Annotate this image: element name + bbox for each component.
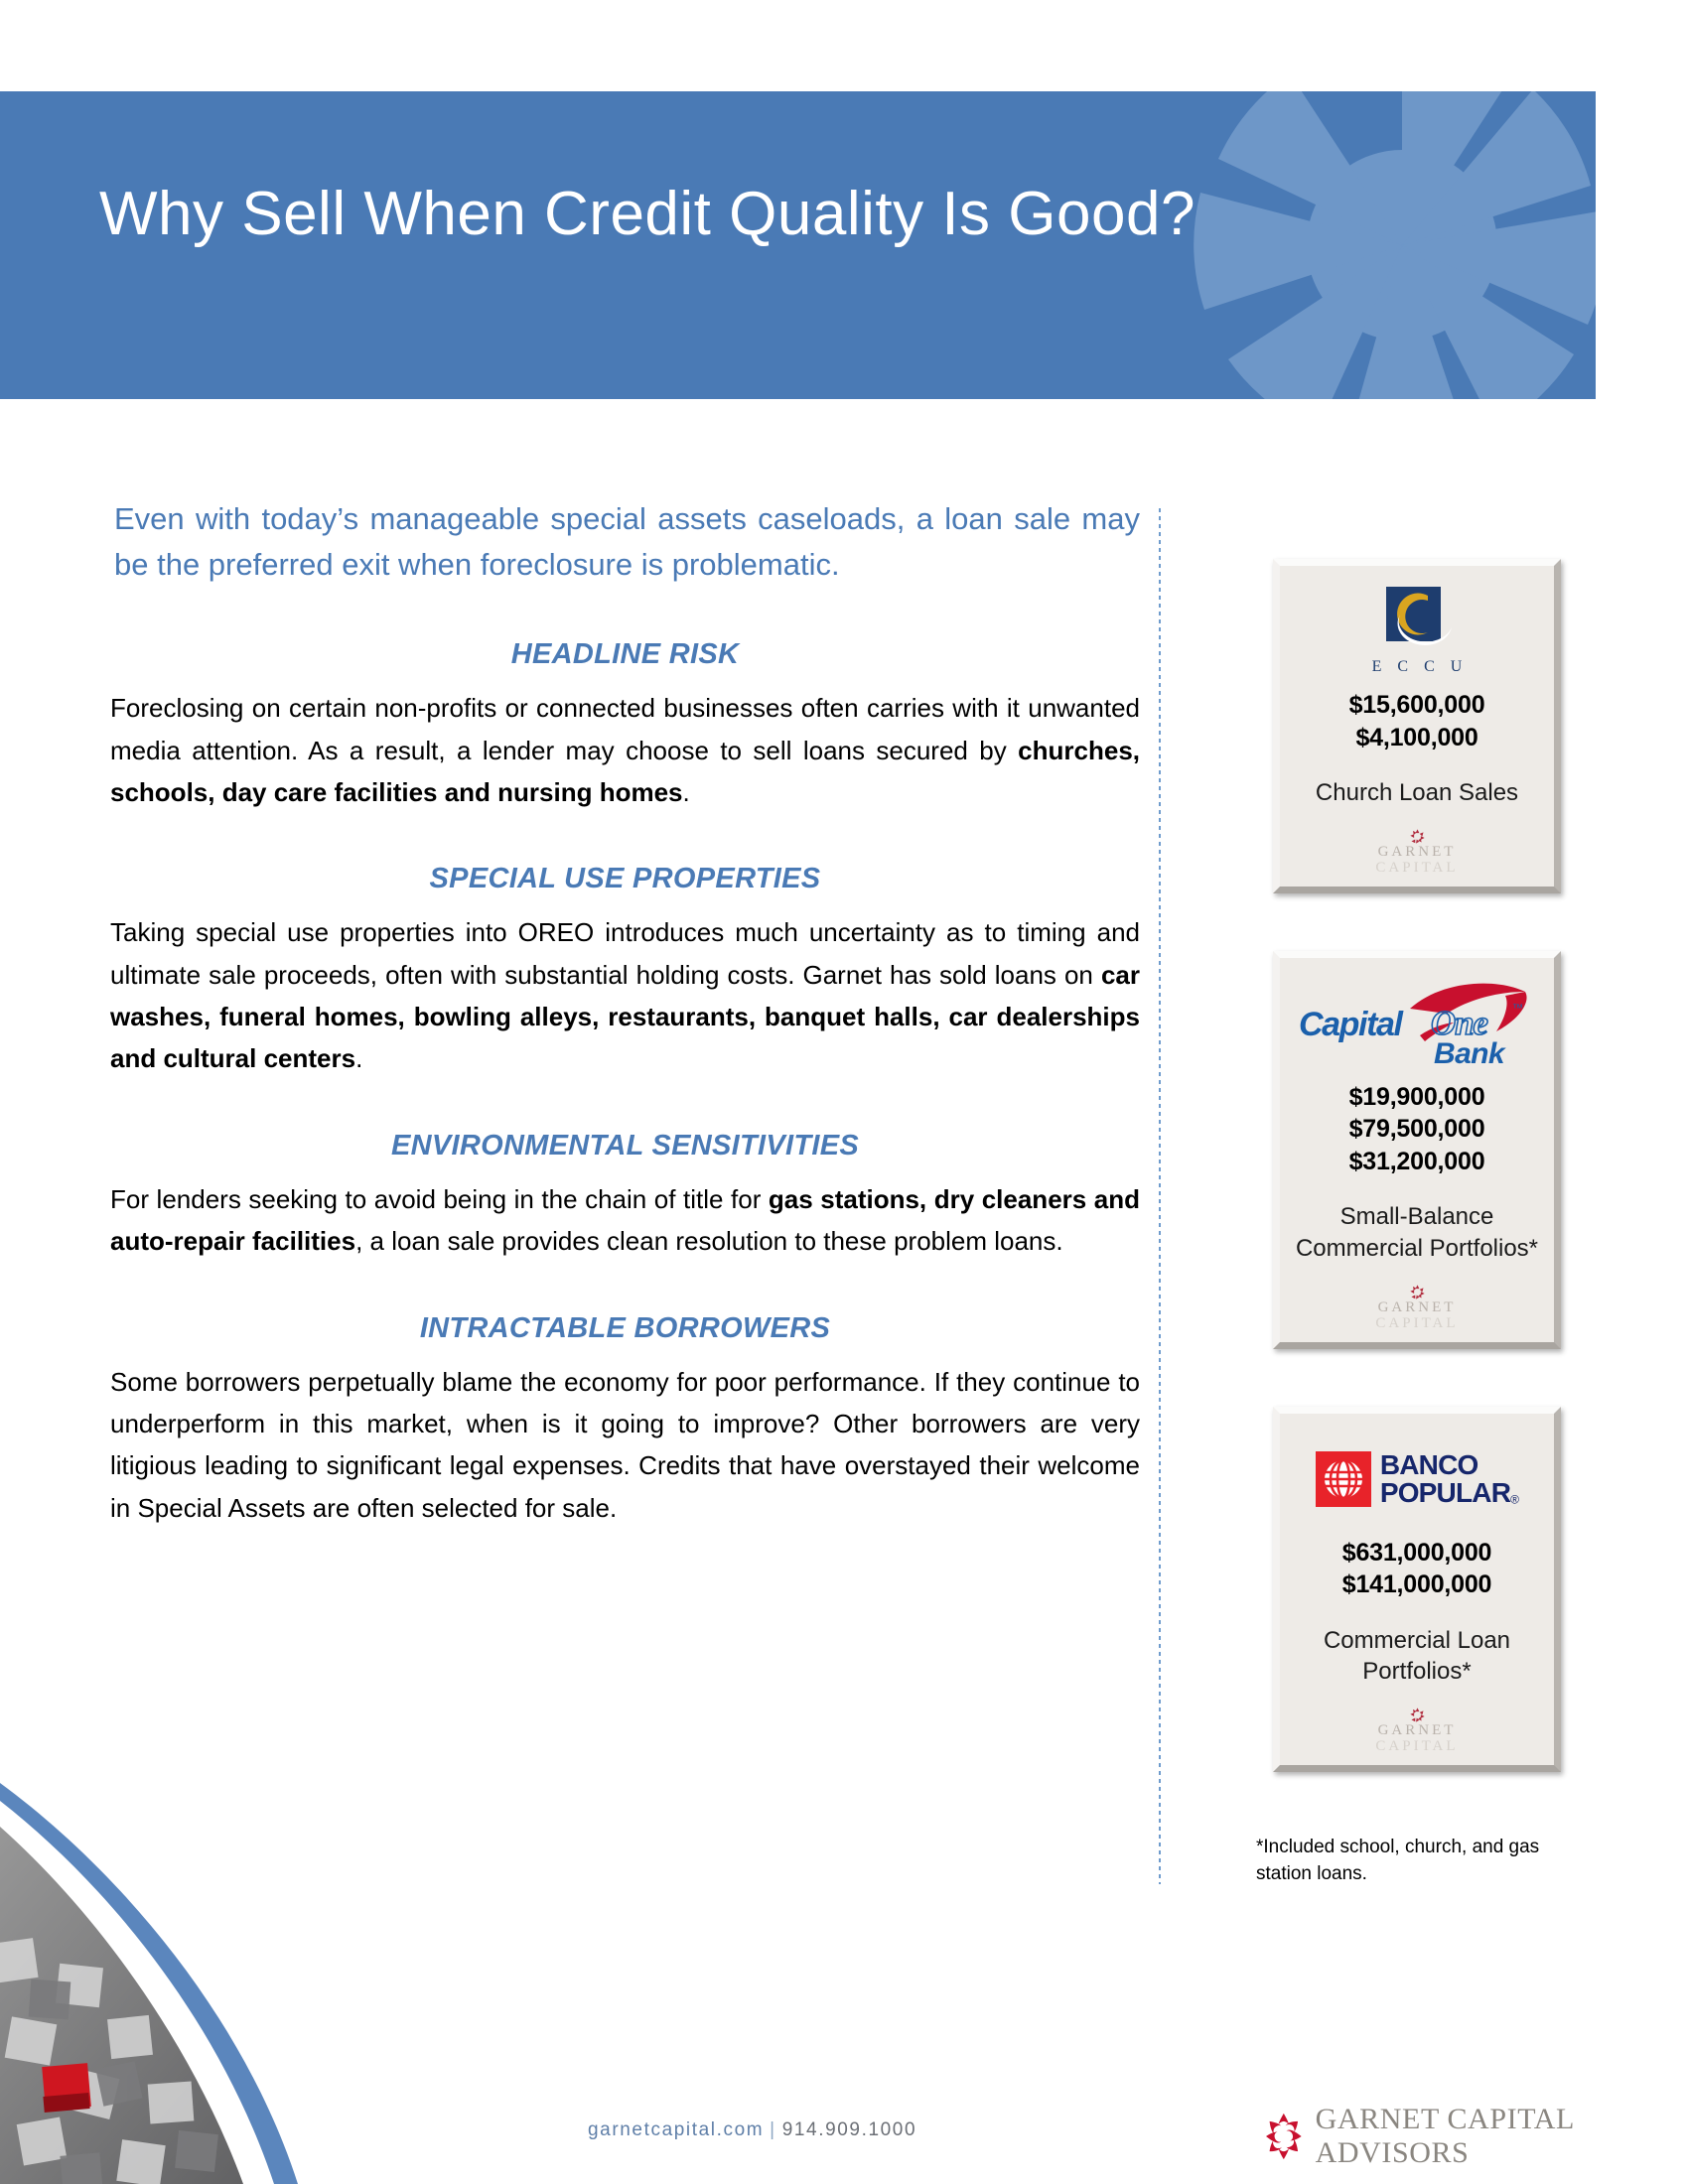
section-heading: SPECIAL USE PROPERTIES xyxy=(110,863,1140,895)
section-body: Some borrowers perpetually blame the eco… xyxy=(110,1361,1140,1530)
page-title: Why Sell When Credit Quality Is Good? xyxy=(99,179,1196,249)
capital-one-word-capital: Capital xyxy=(1299,1006,1402,1044)
eccu-logo: E C C U xyxy=(1290,580,1544,683)
amount-value: $631,000,000 xyxy=(1290,1537,1544,1570)
amount-value: $19,900,000 xyxy=(1290,1081,1544,1114)
card-caption: Commercial LoanPortfolios* xyxy=(1290,1609,1544,1702)
garnet-flower-icon xyxy=(1410,1707,1425,1722)
main-content-column: Even with today’s manageable special ass… xyxy=(110,496,1140,1529)
amount-list: $15,600,000 $4,100,000 xyxy=(1290,689,1544,753)
garnet-logo-icon xyxy=(1266,2111,1302,2162)
stat-card-eccu: E C C U $15,600,000 $4,100,000 Church Lo… xyxy=(1273,559,1561,893)
amount-value: $141,000,000 xyxy=(1290,1569,1544,1601)
garnet-watermark: GARNET CAPITAL xyxy=(1290,1279,1544,1334)
stat-card-banco-popular: BANCO POPULAR® $631,000,000 $141,000,000… xyxy=(1273,1407,1561,1772)
vertical-divider xyxy=(1159,508,1161,1884)
garnet-flower-icon xyxy=(1410,829,1425,844)
banco-popular-word-popular: POPULAR xyxy=(1380,1477,1510,1508)
amount-value: $15,600,000 xyxy=(1290,689,1544,722)
garnet-watermark: GARNET CAPITAL xyxy=(1290,1702,1544,1757)
amount-value: $4,100,000 xyxy=(1290,722,1544,754)
amount-value: $79,500,000 xyxy=(1290,1113,1544,1146)
page-root: Why Sell When Credit Quality Is Good? Ev… xyxy=(0,0,1688,2184)
section-heading: HEADLINE RISK xyxy=(110,638,1140,671)
watermark-line-2: CAPITAL xyxy=(1375,860,1458,876)
banco-popular-logo: BANCO POPULAR® xyxy=(1290,1428,1544,1531)
section-heading: INTRACTABLE BORROWERS xyxy=(110,1312,1140,1345)
banco-popular-word-banco: BANCO xyxy=(1380,1451,1518,1478)
watermark-line-1: GARNET xyxy=(1378,844,1457,860)
section-body: For lenders seeking to avoid being in th… xyxy=(110,1178,1140,1263)
watermark-line-1: GARNET xyxy=(1378,1299,1457,1315)
registered-mark-icon: ® xyxy=(1510,1492,1518,1506)
section-special-use-properties: SPECIAL USE PROPERTIES Taking special us… xyxy=(110,863,1140,1080)
footer-contact: garnetcapital.com|914.909.1000 xyxy=(588,2119,916,2141)
cubes-corner-decoration-icon xyxy=(0,1767,348,2184)
amount-list: $19,900,000 $79,500,000 $31,200,000 xyxy=(1290,1081,1544,1178)
intro-lede: Even with today’s manageable special ass… xyxy=(114,496,1140,587)
trademark-icon: ™ xyxy=(1512,1003,1523,1015)
footer-phone[interactable]: 914.909.1000 xyxy=(782,2119,916,2140)
capital-one-word-bank: Bank xyxy=(1434,1037,1504,1071)
section-environmental-sensitivities: ENVIRONMENTAL SENSITIVITIES For lenders … xyxy=(110,1130,1140,1263)
sidebar-stat-cards: E C C U $15,600,000 $4,100,000 Church Lo… xyxy=(1273,559,1561,1772)
card-caption: Church Loan Sales xyxy=(1290,761,1544,823)
header-banner: Why Sell When Credit Quality Is Good? xyxy=(0,91,1596,399)
footer-website-link[interactable]: garnetcapital.com xyxy=(588,2119,764,2140)
card-caption: Small-BalanceCommercial Portfolios* xyxy=(1290,1185,1544,1278)
watermark-line-2: CAPITAL xyxy=(1375,1315,1458,1331)
amount-value: $31,200,000 xyxy=(1290,1146,1544,1178)
amount-list: $631,000,000 $141,000,000 xyxy=(1290,1537,1544,1601)
section-body: Taking special use properties into OREO … xyxy=(110,911,1140,1080)
section-body: Foreclosing on certain non-profits or co… xyxy=(110,687,1140,813)
section-headline-risk: HEADLINE RISK Foreclosing on certain non… xyxy=(110,638,1140,813)
garnet-watermark: GARNET CAPITAL xyxy=(1290,823,1544,879)
stat-card-capital-one: Capital One ™ Bank $19,900,000 $79,500,0… xyxy=(1273,951,1561,1349)
sidebar-footnote: *Included school, church, and gas statio… xyxy=(1256,1835,1584,1887)
gear-flower-decoration-icon xyxy=(1139,91,1596,399)
eccu-logo-text: E C C U xyxy=(1366,658,1469,676)
footer-brand: GARNET CAPITAL ADVISORS xyxy=(1266,2103,1688,2170)
footer-separator: | xyxy=(764,2119,782,2140)
banco-popular-globe-icon xyxy=(1316,1451,1371,1507)
section-heading: ENVIRONMENTAL SENSITIVITIES xyxy=(110,1130,1140,1162)
garnet-flower-icon xyxy=(1410,1285,1425,1299)
eccu-mark-icon xyxy=(1378,587,1456,654)
watermark-line-1: GARNET xyxy=(1378,1722,1457,1738)
watermark-line-2: CAPITAL xyxy=(1375,1738,1458,1754)
footer-brand-text: GARNET CAPITAL ADVISORS xyxy=(1316,2103,1688,2170)
capital-one-bank-logo: Capital One ™ Bank xyxy=(1290,972,1544,1075)
section-intractable-borrowers: INTRACTABLE BORROWERS Some borrowers per… xyxy=(110,1312,1140,1530)
